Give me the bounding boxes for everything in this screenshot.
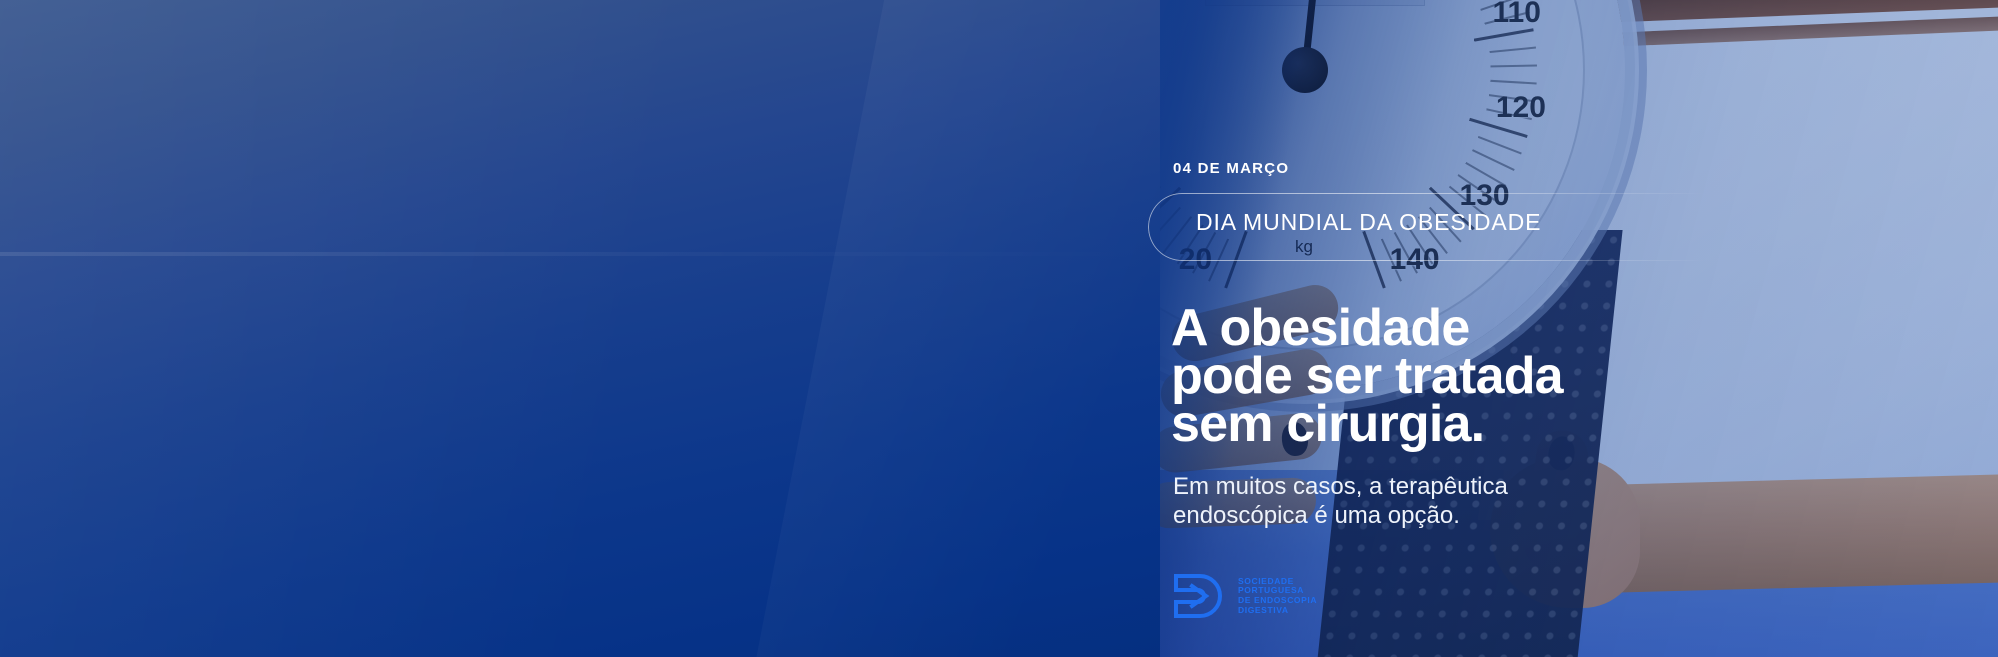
obesity-day-banner: 2030405060708090100110120130140 kg 04 DE… [0, 0, 1998, 657]
sped-logo-wordmark: SOCIEDADE PORTUGUESA DE ENDOSCOPIA DIGES… [1238, 577, 1317, 615]
sped-d-arrow-logomark-icon [1172, 572, 1228, 620]
logo-line-4: DIGESTIVA [1238, 606, 1317, 616]
sped-logo[interactable]: SOCIEDADE PORTUGUESA DE ENDOSCOPIA DIGES… [1172, 572, 1317, 620]
banner-content: 04 DE MARÇO DIA MUNDIAL DA OBESIDADE A o… [1173, 0, 1873, 657]
event-badge-label: DIA MUNDIAL DA OBESIDADE [1196, 209, 1541, 236]
left-gradient-panel [0, 0, 1160, 657]
page-title: A obesidade pode ser tratada sem cirurgi… [1171, 304, 1563, 448]
subheadline: Em muitos casos, a terapêutica endoscópi… [1173, 472, 1508, 530]
date-eyebrow: 04 DE MARÇO [1173, 160, 1289, 177]
